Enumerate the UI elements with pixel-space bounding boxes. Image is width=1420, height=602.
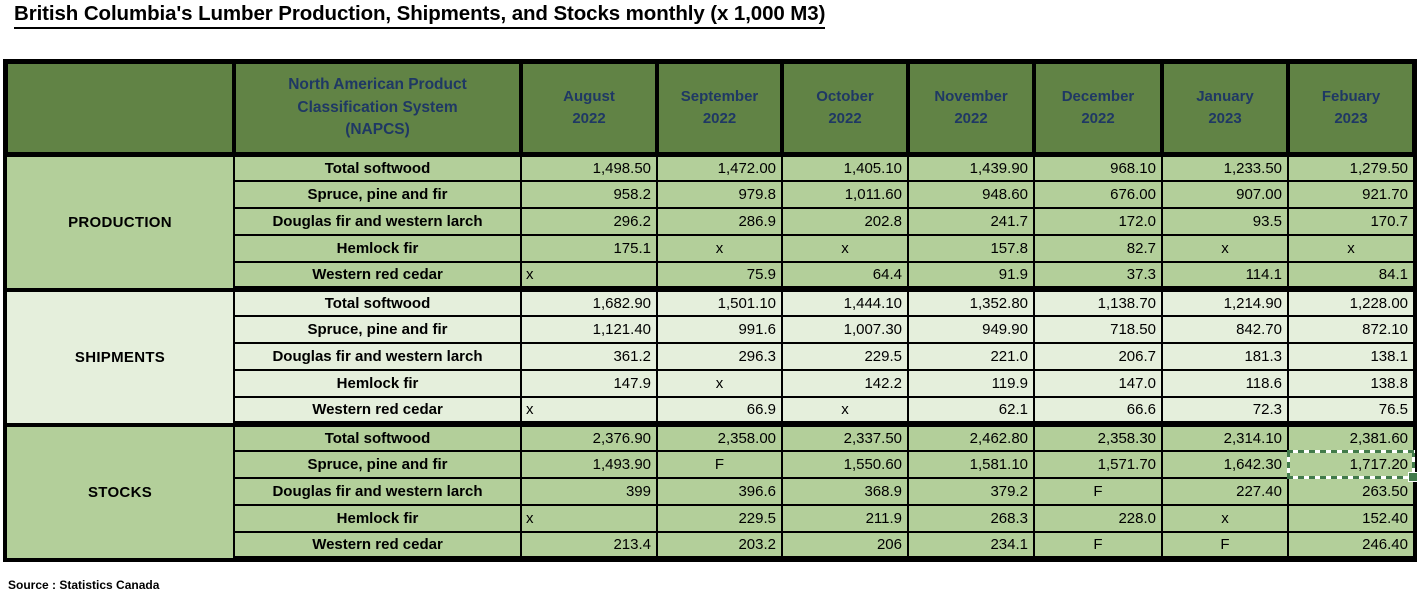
data-cell[interactable]: 152.40: [1288, 505, 1414, 532]
data-cell[interactable]: 206.7: [1034, 343, 1162, 370]
data-cell[interactable]: 1,228.00: [1288, 289, 1414, 316]
data-cell[interactable]: 2,381.60: [1288, 424, 1414, 451]
data-cell[interactable]: 241.7: [908, 208, 1034, 235]
header-month-august: August2022: [521, 62, 657, 154]
data-cell[interactable]: 1,011.60: [782, 181, 908, 208]
data-cell[interactable]: 676.00: [1034, 181, 1162, 208]
data-cell[interactable]: 76.5: [1288, 397, 1414, 424]
data-cell-flag[interactable]: x: [782, 397, 908, 424]
row-label: Spruce, pine and fir: [234, 316, 521, 343]
data-cell[interactable]: 1,472.00: [657, 154, 782, 181]
data-cell[interactable]: 175.1: [521, 235, 657, 262]
data-table-wrapper: North American ProductClassification Sys…: [6, 62, 1404, 559]
data-cell[interactable]: 268.3: [908, 505, 1034, 532]
table-row: SHIPMENTSTotal softwood1,682.901,501.101…: [6, 289, 1414, 316]
page-title: British Columbia's Lumber Production, Sh…: [14, 2, 825, 29]
row-label: Total softwood: [234, 289, 521, 316]
data-cell[interactable]: 296.3: [657, 343, 782, 370]
header-month-name: September: [664, 86, 775, 108]
row-label: Douglas fir and western larch: [234, 343, 521, 370]
data-cell[interactable]: 2,462.80: [908, 424, 1034, 451]
data-cell[interactable]: 948.60: [908, 181, 1034, 208]
data-cell-flag[interactable]: x: [657, 370, 782, 397]
data-cell[interactable]: 147.9: [521, 370, 657, 397]
section-label-stocks: STOCKS: [6, 424, 234, 559]
data-cell-flag[interactable]: x: [521, 262, 657, 289]
data-cell[interactable]: 72.3: [1162, 397, 1288, 424]
header-classification-line-0: North American Product: [241, 74, 514, 96]
header-month-november: November2022: [908, 62, 1034, 154]
data-cell[interactable]: 1,233.50: [1162, 154, 1288, 181]
data-cell-flag[interactable]: x: [521, 397, 657, 424]
data-cell[interactable]: 119.9: [908, 370, 1034, 397]
row-label: Spruce, pine and fir: [234, 181, 521, 208]
data-cell[interactable]: 2,314.10: [1162, 424, 1288, 451]
header-month-name: October: [789, 86, 901, 108]
data-cell[interactable]: 172.0: [1034, 208, 1162, 235]
data-cell-flag[interactable]: x: [521, 505, 657, 532]
header-month-september: September2022: [657, 62, 782, 154]
source-note: Source : Statistics Canada: [8, 578, 159, 592]
data-cell[interactable]: 1,214.90: [1162, 289, 1288, 316]
header-month-year: 2022: [789, 108, 901, 130]
data-cell[interactable]: 66.6: [1034, 397, 1162, 424]
header-month-year: 2022: [915, 108, 1027, 130]
data-cell[interactable]: 138.8: [1288, 370, 1414, 397]
row-label: Hemlock fir: [234, 370, 521, 397]
data-cell[interactable]: 246.40: [1288, 532, 1414, 559]
data-cell[interactable]: 1,642.30: [1162, 451, 1288, 478]
row-label: Douglas fir and western larch: [234, 208, 521, 235]
data-cell-flag[interactable]: x: [1162, 505, 1288, 532]
data-cell[interactable]: 1,352.80: [908, 289, 1034, 316]
header-month-year: 2022: [528, 108, 650, 130]
row-label: Douglas fir and western larch: [234, 478, 521, 505]
data-cell-flag[interactable]: x: [1288, 235, 1414, 262]
data-cell[interactable]: 118.6: [1162, 370, 1288, 397]
row-label: Hemlock fir: [234, 505, 521, 532]
data-cell[interactable]: 1,405.10: [782, 154, 908, 181]
data-cell[interactable]: 37.3: [1034, 262, 1162, 289]
data-cell[interactable]: 170.7: [1288, 208, 1414, 235]
data-cell[interactable]: 979.8: [657, 181, 782, 208]
table-row: STOCKSTotal softwood2,376.902,358.002,33…: [6, 424, 1414, 451]
data-cell[interactable]: 718.50: [1034, 316, 1162, 343]
data-cell[interactable]: 234.1: [908, 532, 1034, 559]
data-cell[interactable]: 211.9: [782, 505, 908, 532]
data-cell[interactable]: 91.9: [908, 262, 1034, 289]
data-cell[interactable]: 229.5: [657, 505, 782, 532]
header-month-year: 2022: [664, 108, 775, 130]
header-month-january: January2023: [1162, 62, 1288, 154]
data-cell[interactable]: 206: [782, 532, 908, 559]
data-cell-flag[interactable]: F: [1162, 532, 1288, 559]
data-cell[interactable]: 958.2: [521, 181, 657, 208]
data-cell[interactable]: 138.1: [1288, 343, 1414, 370]
data-cell[interactable]: 1,138.70: [1034, 289, 1162, 316]
lumber-data-table: North American ProductClassification Sys…: [6, 62, 1414, 559]
data-cell[interactable]: 229.5: [782, 343, 908, 370]
data-cell-flag[interactable]: F: [657, 451, 782, 478]
section-label-production: PRODUCTION: [6, 154, 234, 289]
data-cell[interactable]: 842.70: [1162, 316, 1288, 343]
data-cell-flag[interactable]: x: [782, 235, 908, 262]
row-label: Western red cedar: [234, 262, 521, 289]
data-cell[interactable]: 399: [521, 478, 657, 505]
data-cell[interactable]: 75.9: [657, 262, 782, 289]
data-cell[interactable]: 227.40: [1162, 478, 1288, 505]
data-cell[interactable]: 62.1: [908, 397, 1034, 424]
data-cell[interactable]: 181.3: [1162, 343, 1288, 370]
data-cell[interactable]: 84.1: [1288, 262, 1414, 289]
spreadsheet-page: British Columbia's Lumber Production, Sh…: [0, 0, 1420, 602]
data-cell[interactable]: 1,571.70: [1034, 451, 1162, 478]
header-corner-cell: [6, 62, 234, 154]
row-label: Western red cedar: [234, 532, 521, 559]
data-cell[interactable]: 296.2: [521, 208, 657, 235]
data-cell-flag[interactable]: F: [1034, 532, 1162, 559]
data-cell[interactable]: 361.2: [521, 343, 657, 370]
data-cell[interactable]: 147.0: [1034, 370, 1162, 397]
data-cell[interactable]: 396.6: [657, 478, 782, 505]
data-cell[interactable]: 1,498.50: [521, 154, 657, 181]
data-cell[interactable]: 1,279.50: [1288, 154, 1414, 181]
header-month-year: 2023: [1295, 108, 1407, 130]
data-cell[interactable]: 1,581.10: [908, 451, 1034, 478]
header-month-febuary: Febuary2023: [1288, 62, 1414, 154]
selected-cell[interactable]: 1,717.20: [1288, 451, 1414, 478]
data-cell[interactable]: 1,007.30: [782, 316, 908, 343]
data-cell[interactable]: 368.9: [782, 478, 908, 505]
data-cell[interactable]: 202.8: [782, 208, 908, 235]
header-month-name: November: [915, 86, 1027, 108]
data-cell[interactable]: 1,444.10: [782, 289, 908, 316]
header-month-december: December2022: [1034, 62, 1162, 154]
row-label: Total softwood: [234, 154, 521, 181]
table-header-row: North American ProductClassification Sys…: [6, 62, 1414, 154]
data-cell[interactable]: 2,358.00: [657, 424, 782, 451]
data-cell[interactable]: 1,493.90: [521, 451, 657, 478]
data-cell[interactable]: 203.2: [657, 532, 782, 559]
header-classification-line-2: (NAPCS): [241, 119, 514, 141]
data-cell[interactable]: 213.4: [521, 532, 657, 559]
section-label-shipments: SHIPMENTS: [6, 289, 234, 424]
row-label: Western red cedar: [234, 397, 521, 424]
data-cell[interactable]: 93.5: [1162, 208, 1288, 235]
data-cell[interactable]: 114.1: [1162, 262, 1288, 289]
header-month-name: January: [1169, 86, 1281, 108]
table-body: North American ProductClassification Sys…: [6, 62, 1414, 559]
data-cell[interactable]: 1,550.60: [782, 451, 908, 478]
header-month-name: Febuary: [1295, 86, 1407, 108]
data-cell[interactable]: 2,358.30: [1034, 424, 1162, 451]
data-cell[interactable]: 82.7: [1034, 235, 1162, 262]
data-cell[interactable]: 1,121.40: [521, 316, 657, 343]
data-cell[interactable]: 64.4: [782, 262, 908, 289]
data-cell-flag[interactable]: x: [657, 235, 782, 262]
data-cell[interactable]: 2,337.50: [782, 424, 908, 451]
header-month-year: 2022: [1041, 108, 1155, 130]
data-cell[interactable]: 263.50: [1288, 478, 1414, 505]
row-label: Spruce, pine and fir: [234, 451, 521, 478]
header-month-name: August: [528, 86, 650, 108]
data-cell[interactable]: 1,439.90: [908, 154, 1034, 181]
data-cell[interactable]: 872.10: [1288, 316, 1414, 343]
header-classification-line-1: Classification System: [241, 97, 514, 119]
data-cell[interactable]: 157.8: [908, 235, 1034, 262]
header-classification-cell: North American ProductClassification Sys…: [234, 62, 521, 154]
data-cell[interactable]: 949.90: [908, 316, 1034, 343]
data-cell[interactable]: 286.9: [657, 208, 782, 235]
data-cell-flag[interactable]: x: [1162, 235, 1288, 262]
data-cell[interactable]: 907.00: [1162, 181, 1288, 208]
selection-marching-ants: [1287, 450, 1415, 479]
data-cell[interactable]: 66.9: [657, 397, 782, 424]
header-month-name: December: [1041, 86, 1155, 108]
data-cell-flag[interactable]: F: [1034, 478, 1162, 505]
data-cell[interactable]: 968.10: [1034, 154, 1162, 181]
data-cell[interactable]: 1,501.10: [657, 289, 782, 316]
data-cell[interactable]: 142.2: [782, 370, 908, 397]
data-cell[interactable]: 228.0: [1034, 505, 1162, 532]
data-cell[interactable]: 1,682.90: [521, 289, 657, 316]
row-label: Hemlock fir: [234, 235, 521, 262]
row-label: Total softwood: [234, 424, 521, 451]
table-row: PRODUCTIONTotal softwood1,498.501,472.00…: [6, 154, 1414, 181]
header-month-year: 2023: [1169, 108, 1281, 130]
data-cell[interactable]: 991.6: [657, 316, 782, 343]
header-month-october: October2022: [782, 62, 908, 154]
data-cell[interactable]: 379.2: [908, 478, 1034, 505]
data-cell[interactable]: 221.0: [908, 343, 1034, 370]
data-cell[interactable]: 921.70: [1288, 181, 1414, 208]
data-cell[interactable]: 2,376.90: [521, 424, 657, 451]
